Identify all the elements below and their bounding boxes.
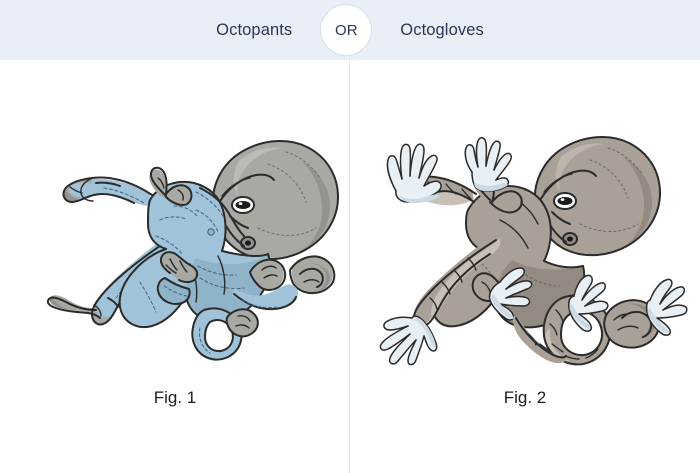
octopus-eye-2 <box>554 193 576 209</box>
octopants-or-octogloves-page: Octopants OR Octogloves .ol{fill:none;st… <box>0 0 700 473</box>
option-octopants[interactable]: Octopants <box>214 16 294 45</box>
comparison-panels: .ol{fill:none;stroke:#2b2b2b;stroke-widt… <box>0 60 700 473</box>
figure-caption-1: Fig. 1 <box>0 388 350 408</box>
panel-divider <box>349 60 350 473</box>
octopus-head-mantle-2 <box>535 137 660 256</box>
or-badge[interactable]: OR <box>321 5 371 55</box>
option-octogloves[interactable]: Octogloves <box>398 16 486 45</box>
glove-upper-left <box>387 144 441 203</box>
choice-row: Octopants OR Octogloves <box>214 5 486 55</box>
octopus-head-mantle <box>213 141 338 260</box>
tentacle-curl-right-b <box>290 256 334 293</box>
octopus-body-group <box>48 141 338 360</box>
glove-mid-left <box>465 138 511 191</box>
octopus-siphon <box>241 237 255 249</box>
panel-octopants[interactable]: .ol{fill:none;stroke:#2b2b2b;stroke-widt… <box>0 60 350 473</box>
tentacle-upper-left <box>63 178 154 206</box>
octopus-body-group-2 <box>380 137 686 365</box>
tentacle-tip-loop <box>227 309 258 336</box>
octopus-siphon-2 <box>563 233 577 245</box>
octopus-with-pants-illustration: .ol{fill:none;stroke:#2b2b2b;stroke-widt… <box>0 60 350 390</box>
choice-header: Octopants OR Octogloves <box>0 0 700 60</box>
panel-octogloves[interactable]: .o2{fill:none;stroke:#2b2b2b;stroke-widt… <box>350 60 700 473</box>
figure-octogloves: .o2{fill:none;stroke:#2b2b2b;stroke-widt… <box>350 60 700 390</box>
octopus-with-gloves-illustration: .o2{fill:none;stroke:#2b2b2b;stroke-widt… <box>350 60 700 390</box>
figure-caption-2: Fig. 2 <box>350 388 700 408</box>
octopus-eye <box>232 197 254 213</box>
figure-octopants: .ol{fill:none;stroke:#2b2b2b;stroke-widt… <box>0 60 350 390</box>
tentacle-upper-left-2 <box>387 144 476 205</box>
tentacle-far-right-2 <box>604 279 687 347</box>
